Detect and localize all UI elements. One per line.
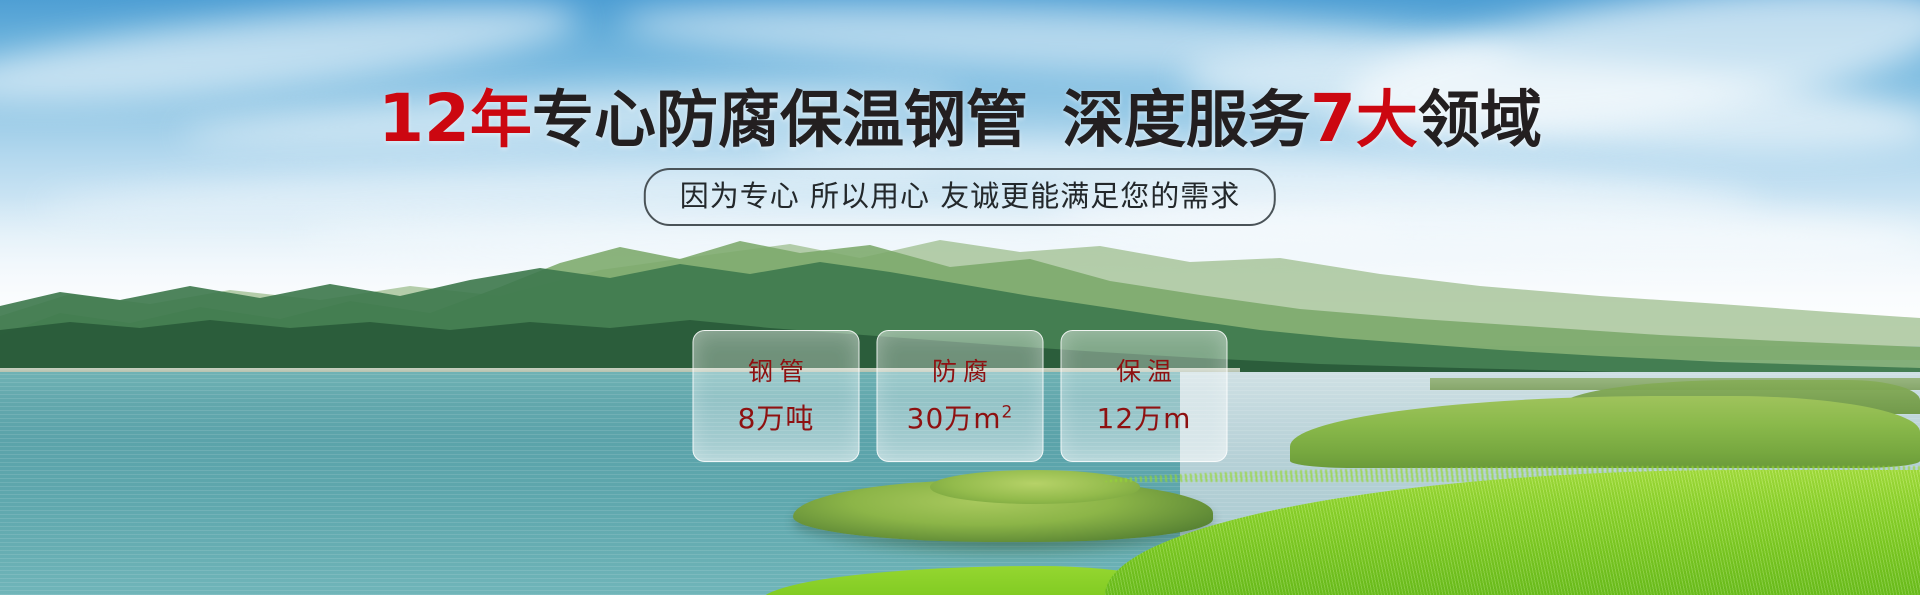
stat-card-steel-pipe[interactable]: 钢管 8万吨 [693,330,860,462]
stat-card-title: 保温 [1110,357,1178,387]
headline-years-unit: 年 [470,83,532,156]
headline-fields-number: 7 [1310,80,1356,157]
stat-card-anticorrosion[interactable]: 防腐 30万m2 [877,330,1044,462]
headline-fields-big: 大 [1356,83,1418,156]
stat-card-title: 防腐 [926,357,994,387]
stat-card-title: 钢管 [742,357,810,387]
headline-service-text: 深度服务 [1062,83,1310,156]
banner-content: 12年专心防腐保温钢管深度服务7大领域 因为专心 所以用心 友诚更能满足您的需求… [0,0,1920,595]
stat-card-value: 30万m2 [907,403,1014,435]
stat-card-value-base: 30万m [907,402,1002,435]
stat-card-insulation[interactable]: 保温 12万m [1061,330,1228,462]
stat-card-value: 12万m [1097,403,1192,435]
stat-card-value-base: 12万m [1097,402,1192,435]
hero-banner: 12年专心防腐保温钢管深度服务7大领域 因为专心 所以用心 友诚更能满足您的需求… [0,0,1920,595]
banner-headline: 12年专心防腐保温钢管深度服务7大领域 [0,88,1920,151]
headline-main-text: 专心防腐保温钢管 [532,83,1028,156]
stat-card-value: 8万吨 [738,403,815,435]
stat-card-group: 钢管 8万吨 防腐 30万m2 保温 12万m [693,330,1228,462]
headline-fields-text: 领域 [1418,83,1542,156]
headline-years-number: 12 [378,80,470,157]
stat-card-value-base: 8万吨 [738,402,815,435]
banner-subtitle-pill: 因为专心 所以用心 友诚更能满足您的需求 [644,168,1276,226]
stat-card-value-superscript: 2 [1002,403,1014,423]
banner-subtitle-text: 因为专心 所以用心 友诚更能满足您的需求 [680,179,1240,213]
